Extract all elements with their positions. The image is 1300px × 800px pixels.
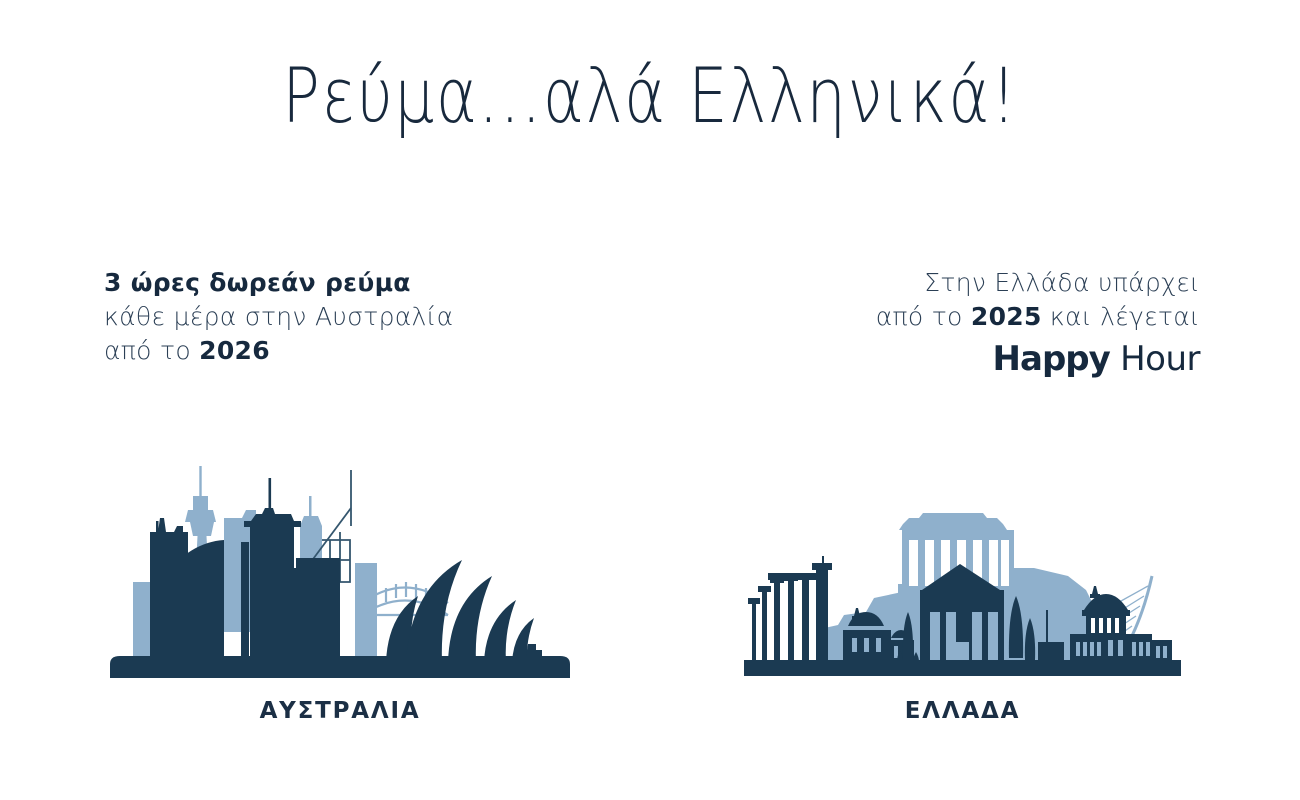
brand-word-hour: Hour [1110,339,1200,379]
australia-copy-line-3: από το 2026 [104,334,544,368]
australia-copy-block: 3 ώρες δωρεάν ρεύμα κάθε μέρα στην Αυστρ… [104,266,544,368]
greece-copy-line-2-suffix: και λέγεται [1042,302,1200,331]
athens-skyline-illustration [740,490,1185,680]
australia-copy-line-3-prefix: από το [104,336,199,365]
greece-copy-line-2-prefix: από το [876,302,971,331]
opera-house [386,560,548,668]
sydney-skyline-illustration [100,448,580,688]
australia-start-year: 2026 [199,336,270,365]
greece-copy-block: Στην Ελλάδα υπάρχει από το 2025 και λέγε… [720,266,1200,380]
greece-copy-line-2: από το 2025 και λέγεται [720,300,1200,334]
athens-dark-buildings [748,556,1172,662]
country-label-australia: ΑΥΣΤΡΑΛΙΑ [100,698,580,724]
country-label-greece: ΕΛΛΑΔΑ [740,698,1185,724]
page-title: Ρεύμα...αλά Ελληνικά! [117,58,1183,134]
greece-start-year: 2025 [971,302,1042,331]
australia-copy-line-2: κάθε μέρα στην Αυστραλία [104,300,544,334]
happy-hour-brand: Happy Hour [720,338,1200,380]
australia-copy-line-1: 3 ώρες δωρεάν ρεύμα [104,266,544,300]
skyline-base [744,660,1181,676]
brand-word-happy: Happy [993,339,1110,379]
skyline-base [110,656,570,678]
greece-copy-line-1: Στην Ελλάδα υπάρχει [720,266,1200,300]
